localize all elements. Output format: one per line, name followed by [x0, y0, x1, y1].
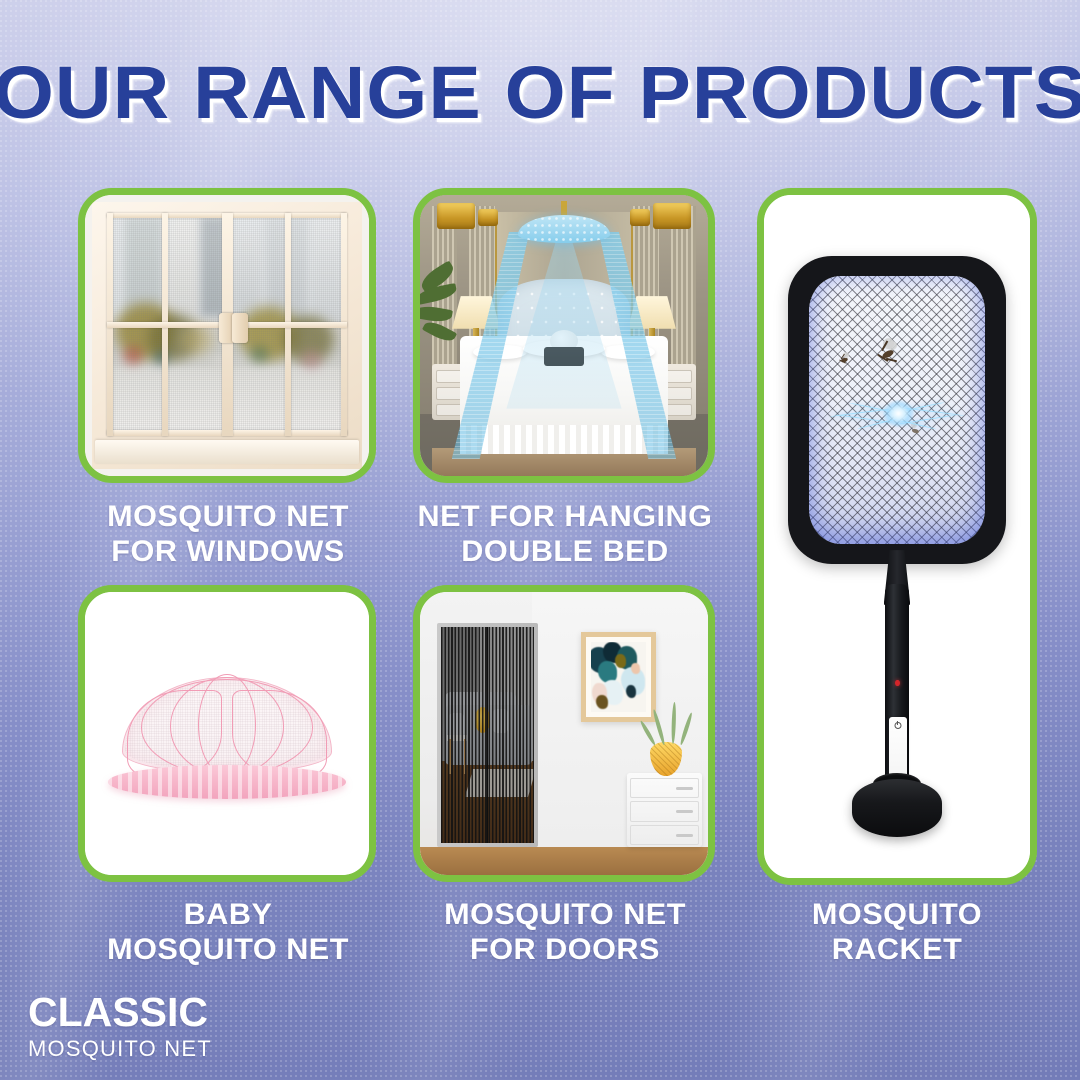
product-image-baby-mosquito-net	[85, 592, 369, 875]
dresser	[627, 773, 702, 847]
charge-indicator-led	[895, 680, 899, 686]
product-caption-baby-mosquito-net: BABY MOSQUITO NET	[44, 898, 411, 968]
product-image-mosquito-net-windows	[85, 195, 369, 476]
product-image-net-hanging-double-bed	[420, 195, 708, 476]
power-icon	[894, 722, 901, 729]
brand-logo-tagline: MOSQUITO NET	[28, 1038, 212, 1060]
mosquito-1	[837, 349, 853, 373]
page-title: OUR RANGE OF PRODUCTS	[0, 56, 1080, 130]
product-card-mosquito-net-windows[interactable]	[78, 188, 376, 483]
product-caption-mosquito-racket: MOSQUITO RACKET	[754, 898, 1040, 968]
product-card-net-hanging-double-bed[interactable]	[413, 188, 715, 483]
brand-logo-name: CLASSIC	[28, 992, 212, 1033]
product-caption-mosquito-net-windows: MOSQUITO NET FOR WINDOWS	[44, 500, 411, 570]
product-caption-net-hanging-double-bed: NET FOR HANGING DOUBLE BED	[387, 500, 744, 570]
electric-spark	[826, 394, 967, 437]
mosquito-2	[876, 335, 901, 372]
racket-head	[788, 256, 1006, 563]
brand-logo: CLASSIC MOSQUITO NET	[28, 992, 212, 1060]
charging-base	[852, 779, 942, 837]
product-card-mosquito-net-doors[interactable]	[413, 585, 715, 882]
product-caption-mosquito-net-doors: MOSQUITO NET FOR DOORS	[387, 898, 744, 968]
product-card-baby-mosquito-net[interactable]	[78, 585, 376, 882]
product-image-mosquito-net-doors	[420, 592, 708, 875]
product-image-mosquito-racket: CLASSIC MOSQUITO RACKET	[764, 195, 1030, 878]
product-card-mosquito-racket[interactable]: CLASSIC MOSQUITO RACKET	[757, 188, 1037, 885]
wall-art-frame	[581, 632, 656, 723]
door-frame	[437, 623, 538, 847]
